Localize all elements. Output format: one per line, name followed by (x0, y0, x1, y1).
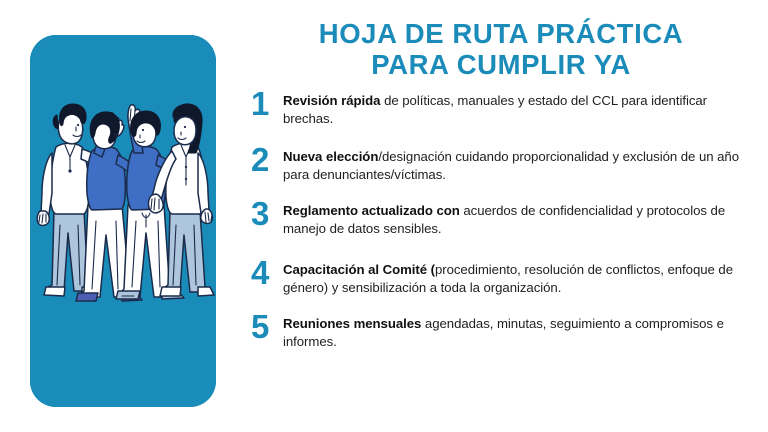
title-line-2: PARA CUMPLIR YA (246, 49, 756, 80)
group-high-five-illustration: .ln { fill:none; stroke:#1b2b4b; stroke-… (30, 35, 216, 407)
list-item: 3 Reglamento actualizado con acuerdos de… (251, 198, 751, 237)
slide-root: .ln { fill:none; stroke:#1b2b4b; stroke-… (0, 0, 768, 432)
page-title: HOJA DE RUTA PRÁCTICA PARA CUMPLIR YA (246, 18, 756, 80)
title-line-1: HOJA DE RUTA PRÁCTICA (246, 18, 756, 49)
list-item: 5 Reuniones mensuales agendadas, minutas… (251, 311, 751, 350)
step-text: Reglamento actualizado con acuerdos de c… (283, 198, 751, 237)
step-number: 1 (251, 88, 283, 119)
step-text: Nueva elección/designación cuidando prop… (283, 144, 751, 183)
step-text: Capacitación al Comité (procedimiento, r… (283, 257, 751, 296)
step-text: Reuniones mensuales agendadas, minutas, … (283, 311, 751, 350)
list-item: 2 Nueva elección/designación cuidando pr… (251, 144, 751, 183)
step-number: 2 (251, 144, 283, 175)
step-text-bold: Reglamento actualizado con (283, 203, 460, 218)
list-item: 1 Revisión rápida de políticas, manuales… (251, 88, 751, 127)
content-column: HOJA DE RUTA PRÁCTICA PARA CUMPLIR YA 1 … (246, 0, 768, 432)
step-number: 3 (251, 198, 283, 229)
step-number: 4 (251, 257, 283, 288)
step-text-bold: Revisión rápida (283, 93, 380, 108)
list-item: 4 Capacitación al Comité (procedimiento,… (251, 257, 751, 296)
illustration-panel: .ln { fill:none; stroke:#1b2b4b; stroke-… (30, 35, 216, 407)
step-number: 5 (251, 311, 283, 342)
step-text: Revisión rápida de políticas, manuales y… (283, 88, 751, 127)
step-text-bold: Reuniones mensuales (283, 316, 421, 331)
step-text-bold: Capacitación al Comité ( (283, 262, 435, 277)
step-text-bold: Nueva elección (283, 149, 378, 164)
steps-list: 1 Revisión rápida de políticas, manuales… (251, 88, 751, 350)
